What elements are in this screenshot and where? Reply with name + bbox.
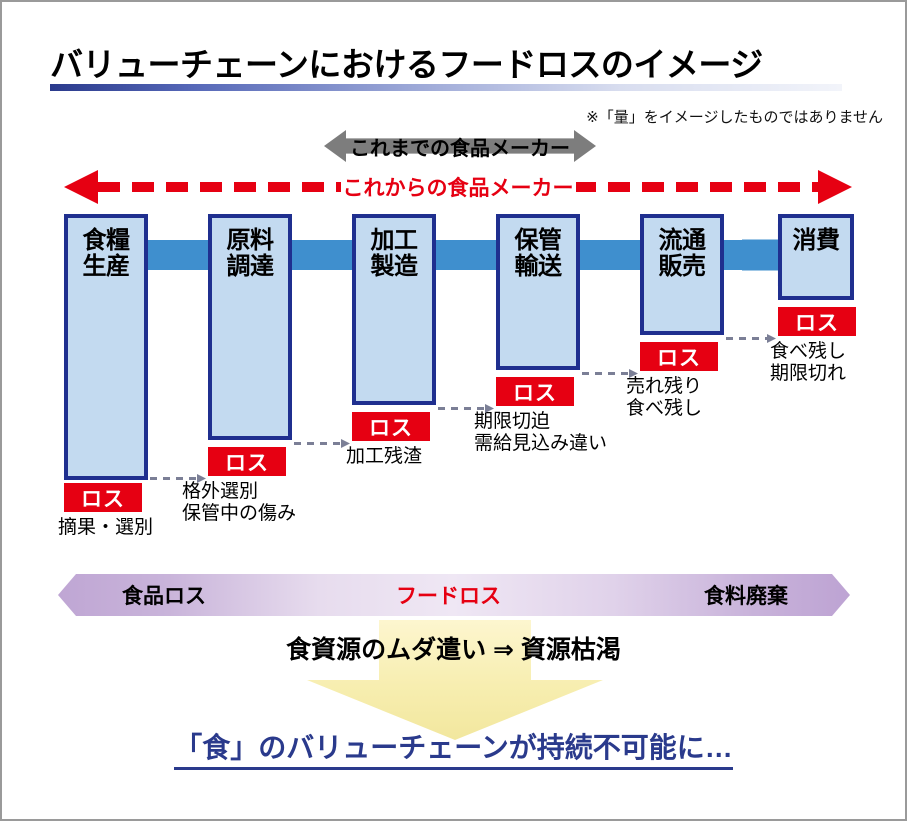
connector-line	[582, 372, 629, 375]
loss-connector-2	[294, 439, 350, 448]
loss-caption-6: 食べ残し期限切れ	[770, 341, 846, 386]
loss-badge-2: ロス	[208, 447, 286, 476]
stage-label: 加工製造	[356, 228, 432, 280]
connector-arrow-icon	[629, 369, 638, 378]
spectrum-label-center: フードロス	[396, 574, 501, 616]
stage-label: 保管輸送	[500, 228, 576, 280]
future-maker-arrow-label: これからの食品メーカー	[64, 170, 852, 204]
conclusion-statement: 「食」のバリューチェーンが持続不可能に…	[2, 726, 905, 766]
stage-label: 原料調達	[212, 228, 288, 280]
loss-connector-1	[150, 474, 206, 483]
connector-line	[438, 407, 485, 410]
stage-label: 消費	[782, 228, 850, 254]
spectrum-label-left: 食品ロス	[122, 574, 206, 616]
legacy-maker-arrow-label: これまでの食品メーカー	[324, 132, 596, 160]
future-maker-arrow-text: これからの食品メーカー	[341, 172, 576, 202]
connector-arrow-icon	[341, 439, 350, 448]
stage-label: 食糧生産	[68, 228, 144, 280]
connector-line	[726, 337, 767, 340]
connector-line	[294, 442, 341, 445]
connector-arrow-icon	[485, 404, 494, 413]
stage-box-shokuryo-seisan[interactable]: 食糧生産	[64, 214, 148, 480]
loss-caption-1: 摘果・選別	[58, 517, 153, 539]
loss-connector-5	[726, 334, 776, 343]
stage-box-genryo-chotatsu[interactable]: 原料調達	[208, 214, 292, 440]
connector-line	[150, 477, 197, 480]
loss-connector-3	[438, 404, 494, 413]
loss-badge-3: ロス	[352, 412, 430, 441]
conclusion-text: 「食」のバリューチェーンが持続不可能に…	[174, 732, 733, 770]
page-title: バリューチェーンにおけるフードロスのイメージ	[50, 38, 763, 86]
spectrum-label-right: 食料廃棄	[704, 574, 788, 616]
loss-connector-4	[582, 369, 638, 378]
loss-badge-5: ロス	[640, 342, 718, 371]
loss-caption-2: 格外選別保管中の傷み	[182, 481, 296, 526]
loss-caption-4: 期限切迫需給見込み違い	[474, 411, 607, 456]
loss-badge-4: ロス	[496, 377, 574, 406]
stage-box-ryutsu-hanbai[interactable]: 流通販売	[640, 214, 724, 335]
stage-box-shohi[interactable]: 消費	[778, 214, 854, 300]
stage-box-kako-seizo[interactable]: 加工製造	[352, 214, 436, 405]
loss-badge-1: ロス	[64, 483, 142, 512]
disclaimer-note: ※「量」をイメージしたものではありません	[586, 106, 883, 127]
stage-label: 流通販売	[644, 228, 720, 280]
connector-arrow-icon	[767, 334, 776, 343]
loss-caption-3: 加工残渣	[346, 446, 422, 468]
infographic-frame: バリューチェーンにおけるフードロスのイメージ ※「量」をイメージしたものではあり…	[0, 0, 907, 821]
connector-arrow-icon	[197, 474, 206, 483]
loss-badge-6: ロス	[778, 307, 856, 336]
stage-box-hokan-yuso[interactable]: 保管輸送	[496, 214, 580, 370]
title-underline-rule	[50, 84, 842, 91]
waste-statement: 食資源のムダ遣い ⇒ 資源枯渇	[2, 630, 905, 666]
loss-caption-5: 売れ残り食べ残し	[626, 376, 702, 421]
